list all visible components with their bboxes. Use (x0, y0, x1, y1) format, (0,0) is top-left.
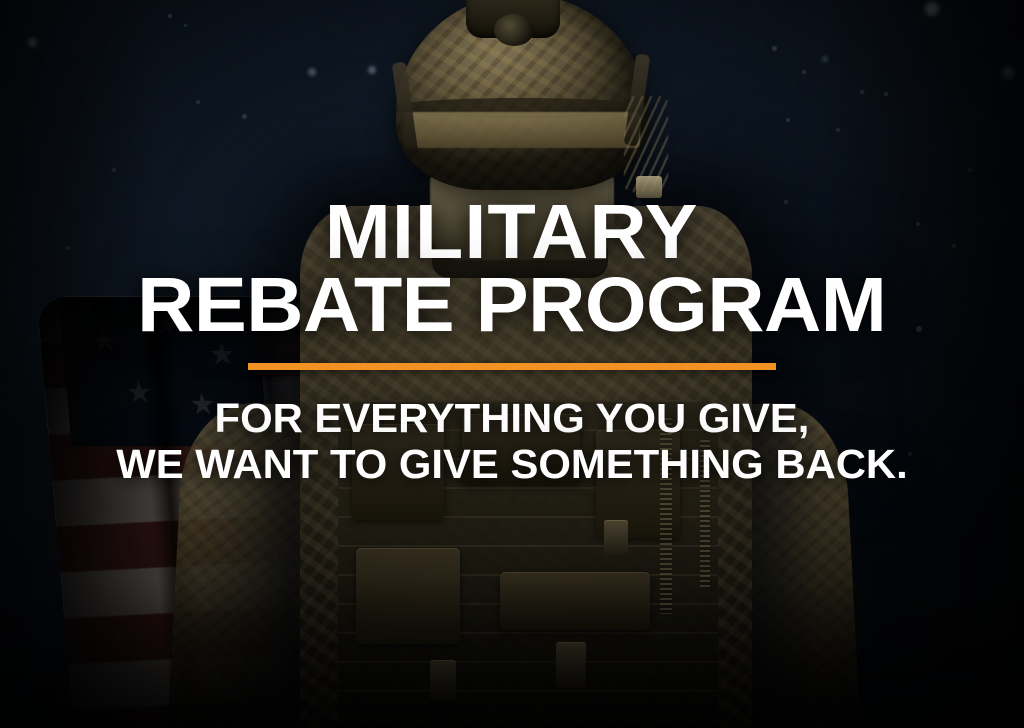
orange-divider-rule (248, 363, 776, 370)
headline-line-1: MILITARY (137, 196, 886, 269)
text-overlay: MILITARY REBATE PROGRAM FOR EVERYTHING Y… (0, 0, 1024, 728)
subheadline-line-1: FOR EVERYTHING YOU GIVE, (116, 396, 908, 442)
military-rebate-banner: MILITARY REBATE PROGRAM FOR EVERYTHING Y… (0, 0, 1024, 728)
headline-line-2: REBATE PROGRAM (137, 269, 886, 342)
page-subtitle: FOR EVERYTHING YOU GIVE, WE WANT TO GIVE… (116, 396, 908, 488)
subheadline-line-2: WE WANT TO GIVE SOMETHING BACK. (116, 442, 908, 488)
page-title: MILITARY REBATE PROGRAM (137, 196, 886, 342)
